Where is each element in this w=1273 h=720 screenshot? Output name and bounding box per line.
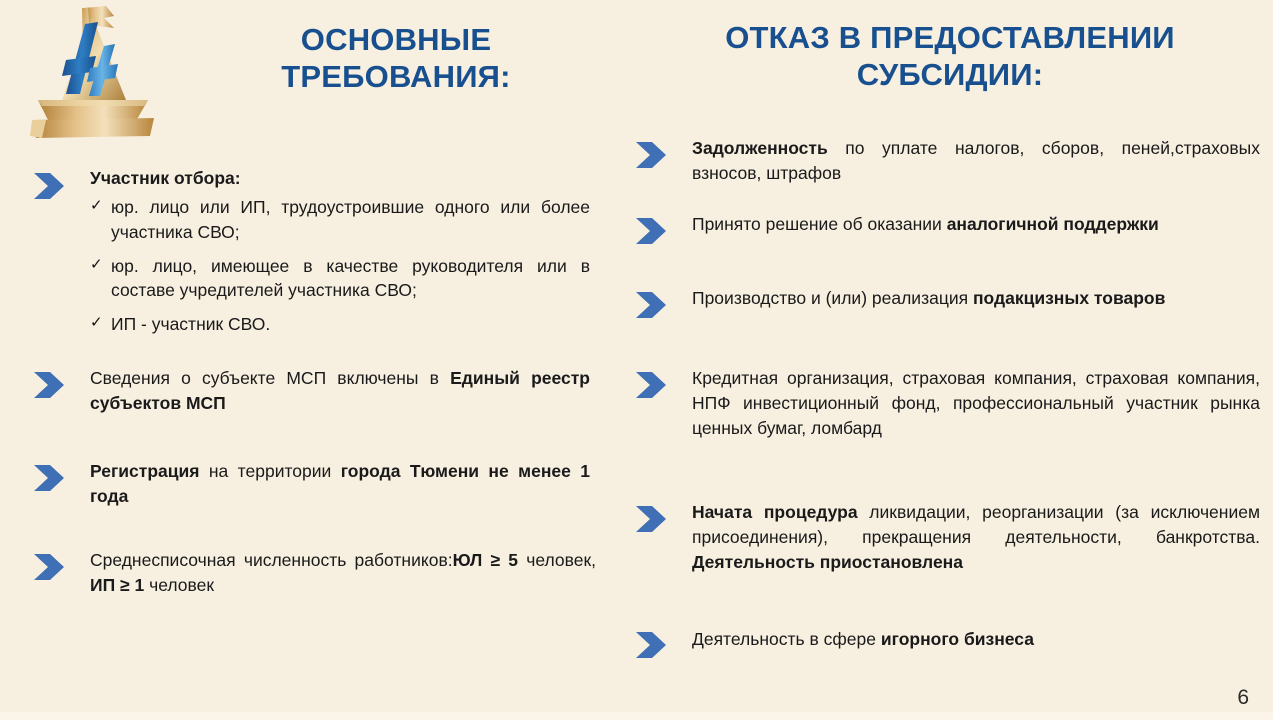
- requirement-text: Регистрация на территории города Тюмени …: [90, 459, 590, 509]
- left-column: ОСНОВНЫЕ ТРЕБОВАНИЯ: Участник отбора: ✓ю…: [0, 0, 620, 720]
- refusal-text: Задолженность по уплате налогов, сборов,…: [692, 136, 1260, 186]
- page-number: 6: [1237, 686, 1249, 710]
- slide: ОСНОВНЫЕ ТРЕБОВАНИЯ: Участник отбора: ✓ю…: [0, 0, 1273, 720]
- participant-check-list: ✓юр. лицо или ИП, трудоустроившие одного…: [90, 195, 590, 337]
- participant-lead: Участник отбора:: [90, 166, 590, 191]
- refusal-text: Начата процедура ликвидации, реорганизац…: [692, 500, 1260, 575]
- list-item: ✓юр. лицо, имеющее в качестве руководите…: [90, 254, 590, 304]
- list-item: ✓юр. лицо или ИП, трудоустроившие одного…: [90, 195, 590, 245]
- requirement-text: Среднесписочная численность работников:Ю…: [90, 548, 596, 598]
- page-title-left: ОСНОВНЫЕ ТРЕБОВАНИЯ:: [196, 22, 596, 95]
- bottom-strip: [0, 712, 1273, 720]
- check-icon: ✓: [90, 312, 103, 333]
- arrow-bullet-icon: [32, 171, 70, 201]
- refusal-text: Производство и (или) реализация подакциз…: [692, 286, 1260, 311]
- arrow-bullet-icon: [634, 504, 672, 534]
- refusal-text: Принято решение об оказании аналогичной …: [692, 212, 1260, 237]
- arrow-bullet-icon: [32, 552, 70, 582]
- refusal-text: Кредитная организация, страховая компани…: [692, 366, 1260, 441]
- requirement-text: Сведения о субъекте МСП включены в Едины…: [90, 366, 590, 416]
- check-icon: ✓: [90, 254, 103, 275]
- arrow-bullet-icon: [634, 140, 672, 170]
- arrow-bullet-icon: [32, 463, 70, 493]
- page-title-right: ОТКАЗ В ПРЕДОСТАВЛЕНИИ СУБСИДИИ:: [650, 20, 1250, 93]
- right-column: ОТКАЗ В ПРЕДОСТАВЛЕНИИ СУБСИДИИ: Задолже…: [620, 0, 1273, 720]
- arrow-bullet-icon: [634, 370, 672, 400]
- list-item: ✓ИП - участник СВО.: [90, 312, 590, 337]
- arrow-bullet-icon: [32, 370, 70, 400]
- arrow-bullet-icon: [634, 630, 672, 660]
- refusal-text: Деятельность в сфере игорного бизнеса: [692, 627, 1260, 652]
- arrow-bullet-icon: [634, 216, 672, 246]
- arrow-bullet-icon: [634, 290, 672, 320]
- check-icon: ✓: [90, 195, 103, 216]
